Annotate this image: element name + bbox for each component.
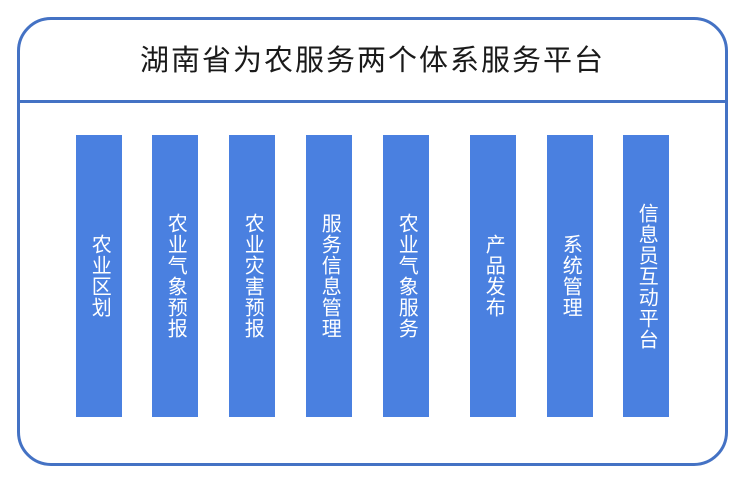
module-label: 产品发布 xyxy=(479,234,507,318)
module-bar-agricultural-disaster-forecast[interactable]: 农业灾害预报 xyxy=(229,135,275,417)
module-bar-system-management[interactable]: 系统管理 xyxy=(547,135,593,417)
module-label: 农业区划 xyxy=(85,234,113,318)
module-label: 服务信息管理 xyxy=(315,213,343,339)
page-title: 湖南省为农服务两个体系服务平台 xyxy=(140,47,605,76)
module-bar-agrometeorological-forecast[interactable]: 农业气象预报 xyxy=(152,135,198,417)
module-bars-region: 农业区划 农业气象预报 农业灾害预报 服务信息管理 农业气象服务 产品发布 系统… xyxy=(20,103,725,466)
title-band: 湖南省为农服务两个体系服务平台 xyxy=(20,20,725,102)
module-label: 农业灾害预报 xyxy=(238,213,266,339)
module-bar-agricultural-zoning[interactable]: 农业区划 xyxy=(76,135,122,417)
module-bar-information-officer-interaction-platform[interactable]: 信息员互动平台 xyxy=(623,135,669,417)
module-bar-product-release[interactable]: 产品发布 xyxy=(470,135,516,417)
diagram-canvas: 湖南省为农服务两个体系服务平台 农业区划 农业气象预报 农业灾害预报 服务信息管… xyxy=(0,0,752,484)
module-label: 系统管理 xyxy=(556,234,584,318)
module-label: 农业气象预报 xyxy=(161,213,189,339)
module-bar-service-information-management[interactable]: 服务信息管理 xyxy=(306,135,352,417)
platform-frame: 湖南省为农服务两个体系服务平台 农业区划 农业气象预报 农业灾害预报 服务信息管… xyxy=(17,17,728,466)
module-label: 农业气象服务 xyxy=(392,213,420,339)
module-label: 信息员互动平台 xyxy=(632,203,660,350)
module-bar-agrometeorological-service[interactable]: 农业气象服务 xyxy=(383,135,429,417)
